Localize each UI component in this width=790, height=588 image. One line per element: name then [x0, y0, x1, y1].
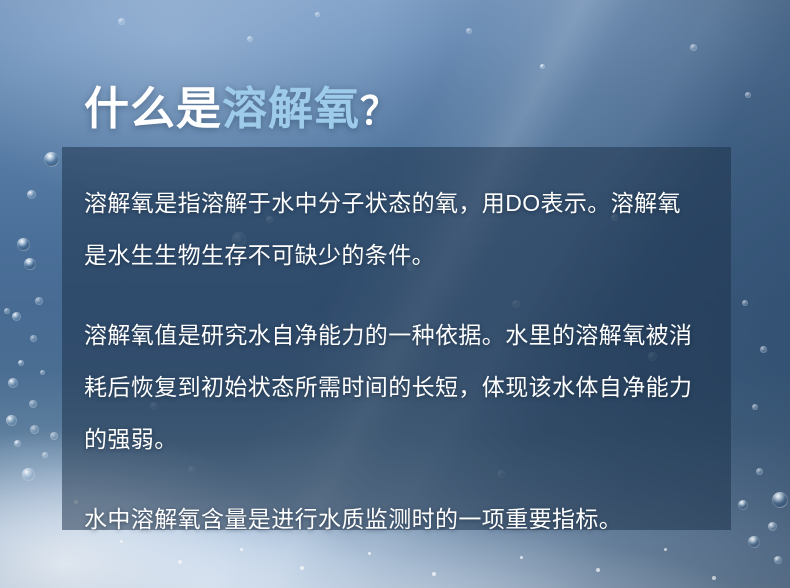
bubble-icon	[12, 312, 21, 321]
bubble-icon	[6, 415, 17, 426]
bubble-icon	[712, 576, 716, 580]
bubble-icon	[8, 378, 18, 388]
bubble-icon	[42, 452, 48, 458]
bubble-icon	[368, 552, 371, 555]
bubble-icon	[664, 548, 667, 551]
bubble-icon	[247, 36, 253, 42]
bubble-icon	[774, 556, 782, 564]
bubble-icon	[768, 522, 777, 531]
bubble-icon	[772, 492, 788, 508]
paragraph-monitoring-index: 水中溶解氧含量是进行水质监测时的一项重要指标。	[84, 493, 701, 545]
bubble-icon	[745, 92, 751, 98]
page-title-prefix: 什么是	[84, 83, 222, 134]
page-title-accent: 溶解氧	[222, 83, 360, 134]
paragraph-self-purification: 溶解氧值是研究水自净能力的一种依据。水里的溶解氧被消耗后恢复到初始状态所需时间的…	[84, 309, 701, 465]
bubble-icon	[44, 152, 59, 167]
bubble-icon	[315, 12, 320, 17]
paragraph-definition: 溶解氧是指溶解于水中分子状态的氧，用DO表示。溶解氧是水生生物生存不可缺少的条件…	[84, 177, 701, 281]
bubble-icon	[466, 28, 472, 34]
bubble-icon	[300, 566, 304, 570]
bubble-icon	[50, 432, 58, 440]
bubble-icon	[35, 297, 43, 305]
bubble-icon	[118, 18, 125, 25]
bubble-icon	[690, 44, 697, 51]
bubble-icon	[432, 572, 436, 576]
bubble-icon	[596, 568, 600, 572]
page-title: 什么是溶解氧？	[84, 86, 399, 131]
bubble-icon	[30, 425, 39, 434]
bubble-icon	[742, 300, 748, 306]
bubble-icon	[738, 500, 748, 510]
bubble-icon	[178, 560, 182, 564]
bubble-icon	[17, 238, 30, 251]
bubble-icon	[14, 440, 21, 447]
bubble-icon	[520, 556, 523, 559]
content-panel: 溶解氧是指溶解于水中分子状态的氧，用DO表示。溶解氧是水生生物生存不可缺少的条件…	[62, 147, 731, 530]
bubble-icon	[540, 64, 545, 69]
bubble-icon	[752, 404, 758, 410]
page-title-qmark: ？	[360, 91, 399, 133]
bubble-icon	[30, 335, 37, 342]
bubble-icon	[748, 536, 760, 548]
bubble-icon	[40, 370, 45, 375]
bubble-icon	[22, 468, 35, 481]
bubble-icon	[756, 468, 763, 475]
bubble-icon	[760, 346, 767, 353]
bubble-icon	[24, 258, 36, 270]
bubble-icon	[4, 308, 10, 314]
bubble-icon	[240, 548, 243, 551]
poster-canvas: 什么是溶解氧？ 溶解氧是指溶解于水中分子状态的氧，用DO表示。溶解氧是水生生物生…	[0, 0, 790, 588]
bubble-icon	[18, 360, 24, 366]
bubble-icon	[27, 190, 36, 199]
bubble-icon	[29, 400, 37, 408]
